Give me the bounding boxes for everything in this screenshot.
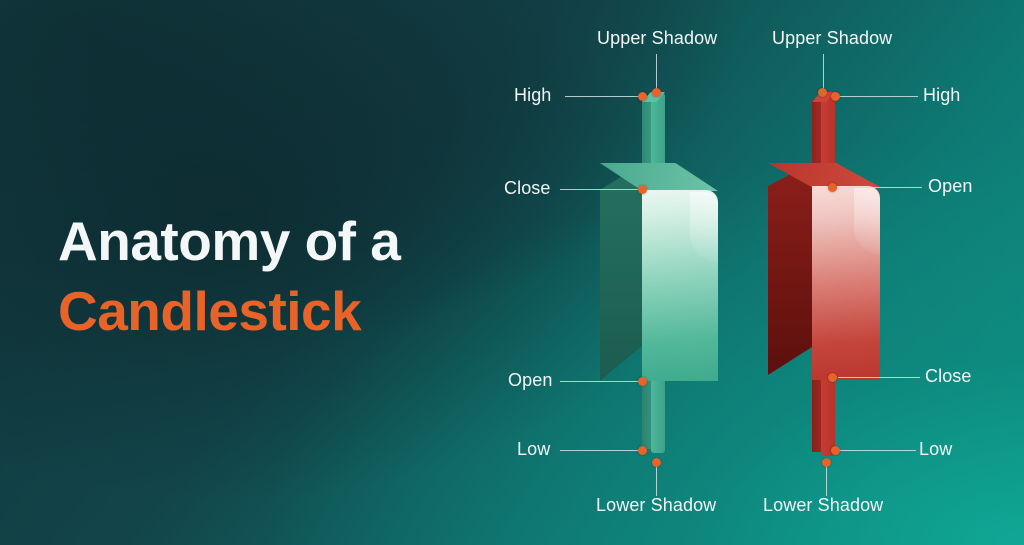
bullish-lower-wick-side: [642, 381, 651, 449]
bullish-lower-wick-front: [651, 381, 665, 453]
bullish-low-leader: [560, 450, 645, 451]
bullish-lower-shadow-leader: [656, 464, 657, 496]
bearish-close-leader: [838, 377, 920, 378]
bearish-low-leader: [838, 450, 916, 451]
bearish-lower-shadow-dot: [822, 458, 831, 467]
bullish-open-leader: [560, 381, 645, 382]
title-line-1: Anatomy of a: [58, 206, 400, 276]
bearish-high-label: High: [923, 85, 960, 106]
bullish-body-left-face: [600, 163, 643, 381]
bearish-open-leader: [838, 187, 922, 188]
bearish-close-dot: [828, 373, 837, 382]
bearish-low-label: Low: [919, 439, 952, 460]
title-line-2: Candlestick: [58, 276, 400, 346]
bullish-upper-shadow-label: Upper Shadow: [597, 28, 717, 49]
bullish-lower-shadow-label: Lower Shadow: [596, 495, 716, 516]
bearish-upper-shadow-dot: [818, 88, 827, 97]
bearish-lower-shadow-leader: [826, 464, 827, 496]
bearish-lower-wick-side: [812, 380, 821, 452]
bullish-upper-shadow-leader: [656, 54, 657, 92]
bullish-open-dot: [638, 377, 647, 386]
bearish-open-dot: [828, 183, 837, 192]
bullish-lower-shadow-dot: [652, 458, 661, 467]
bearish-lower-wick-front: [821, 380, 835, 456]
bullish-close-dot: [638, 185, 647, 194]
bearish-high-dot: [831, 92, 840, 101]
bearish-upper-shadow-leader: [823, 54, 824, 92]
bullish-open-label: Open: [508, 370, 552, 391]
bullish-low-dot: [638, 446, 647, 455]
bullish-high-label: High: [514, 85, 551, 106]
bearish-upper-shadow-label: Upper Shadow: [772, 28, 892, 49]
bearish-lower-shadow-label: Lower Shadow: [763, 495, 883, 516]
bullish-close-label: Close: [504, 178, 551, 199]
bearish-body-left-face: [768, 163, 812, 375]
bullish-low-label: Low: [517, 439, 550, 460]
bearish-close-label: Close: [925, 366, 972, 387]
bullish-high-leader: [565, 96, 645, 97]
bullish-close-leader: [560, 189, 645, 190]
bearish-high-leader: [838, 96, 918, 97]
bearish-open-label: Open: [928, 176, 972, 197]
bullish-high-dot: [638, 92, 647, 101]
bearish-low-dot: [831, 446, 840, 455]
infographic-canvas: Anatomy of a Candlestick Upper Shadow Hi…: [0, 0, 1024, 545]
bullish-upper-shadow-dot: [652, 88, 661, 97]
page-title: Anatomy of a Candlestick: [58, 206, 400, 347]
